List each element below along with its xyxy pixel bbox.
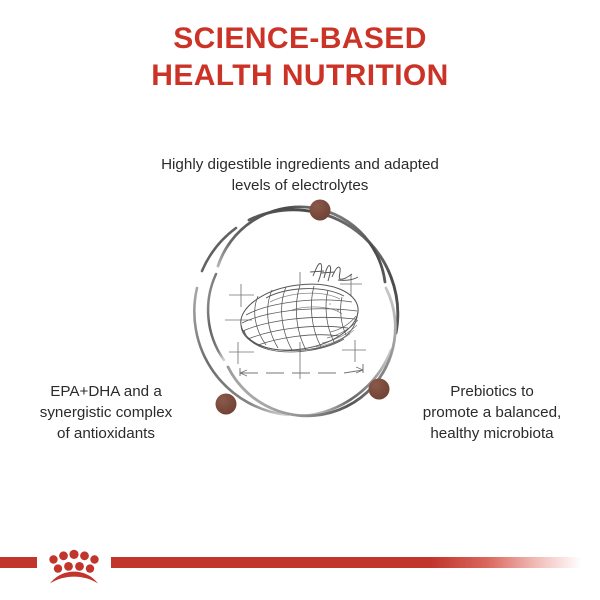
brand-bar-right [111,557,581,568]
page-title-line-1: SCIENCE-BASED [0,20,600,57]
feature-caption-epa-dha: EPA+DHA and a synergistic complex of ant… [8,381,204,444]
page-title-line-2: HEALTH NUTRITION [0,57,600,94]
brand-footer [0,538,600,600]
brand-bar-left [0,557,37,568]
feature-caption-prebiotics: Prebiotics to promote a balanced, health… [394,381,590,444]
node-bottom-left [216,394,237,415]
node-bottom-right [369,379,390,400]
product-benefits-panel: SCIENCE-BASED HEALTH NUTRITION Highly di… [0,0,600,600]
feature-caption-digestibility: Highly digestible ingredients and adapte… [90,154,510,196]
node-top [310,200,331,221]
royal-canin-crown-icon [37,546,111,590]
technical-dimension-marks-icon [225,272,366,379]
page-title: SCIENCE-BASED HEALTH NUTRITION [0,20,600,94]
kibble-diagram [180,192,420,432]
kibble-wireframe-sketch-icon [241,284,358,352]
